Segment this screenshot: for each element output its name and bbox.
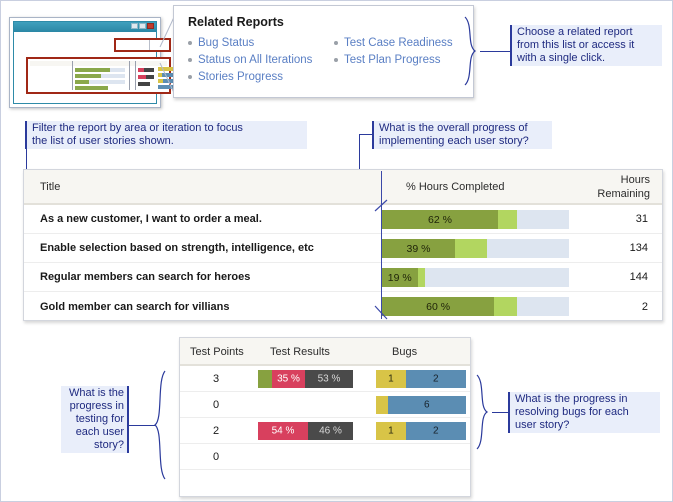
related-reports-column-1: Bug Status Status on All Iterations Stor… bbox=[188, 34, 312, 85]
table-row[interactable]: 06 bbox=[180, 392, 470, 418]
table-row[interactable]: Gold member can search for villians60 %2 bbox=[24, 292, 662, 321]
screenshot-page: Related Reports Bug Status Status on All… bbox=[0, 0, 673, 502]
callout-filter: Filter the report by area or iteration t… bbox=[25, 121, 307, 149]
table-row[interactable]: As a new customer, I want to order a mea… bbox=[24, 205, 662, 234]
bar-segment: 1 bbox=[376, 422, 406, 440]
segment-label: 46 % bbox=[308, 426, 353, 437]
column-header-test-results: Test Results bbox=[270, 346, 330, 358]
user-story-title: Gold member can search for villians bbox=[40, 301, 230, 313]
segment-label: 2 bbox=[406, 426, 466, 437]
user-stories-rows: As a new customer, I want to order a mea… bbox=[24, 205, 662, 321]
hours-completed-bar: 19 % bbox=[382, 268, 569, 287]
thumbnail-titlebar bbox=[14, 22, 156, 32]
testing-callout-connector bbox=[129, 425, 155, 426]
callout-overall-progress: What is the overall progress of implemen… bbox=[372, 121, 552, 149]
user-story-title: Enable selection based on strength, inte… bbox=[40, 242, 314, 254]
bar-segment: 6 bbox=[388, 396, 466, 414]
table-row[interactable]: Regular members can search for heroes19 … bbox=[24, 263, 662, 292]
test-results-bar: 35 %53 % bbox=[258, 370, 353, 388]
minimize-icon bbox=[131, 23, 138, 29]
bullet-icon bbox=[188, 75, 192, 79]
close-icon bbox=[147, 23, 154, 29]
bar-segment: 46 % bbox=[308, 422, 353, 440]
percent-label: 60 % bbox=[382, 301, 494, 313]
test-points-value: 0 bbox=[180, 399, 252, 411]
user-stories-table: Title % Hours Completed Hours Remaining … bbox=[23, 169, 663, 321]
bar-segment bbox=[376, 396, 388, 414]
link-label: Stories Progress bbox=[198, 71, 283, 83]
segment-label: 53 % bbox=[305, 374, 353, 385]
related-report-test-plan-progress[interactable]: Test Plan Progress bbox=[334, 51, 453, 68]
column-header-title: Title bbox=[40, 181, 60, 193]
column-header-hours-remaining: Hours Remaining bbox=[597, 173, 650, 201]
window-buttons bbox=[131, 23, 154, 29]
main-table-divider bbox=[381, 171, 382, 319]
hours-remaining-value: 2 bbox=[642, 301, 648, 313]
hours-remaining-value: 134 bbox=[630, 242, 648, 254]
completed-segment: 60 % bbox=[382, 297, 494, 316]
related-report-test-case-readiness[interactable]: Test Case Readiness bbox=[334, 34, 453, 51]
hours-remaining-value: 144 bbox=[630, 271, 648, 283]
overall-callout-connector-h bbox=[359, 134, 373, 135]
maximize-icon bbox=[139, 23, 146, 29]
callout-testing-progress: What is the progress in testing for each… bbox=[61, 386, 129, 453]
related-reports-column-2: Test Case Readiness Test Plan Progress bbox=[334, 34, 453, 68]
thumbnail-table-highlight bbox=[26, 57, 171, 94]
test-results-bar: 54 %46 % bbox=[258, 422, 353, 440]
bar-segment: 35 % bbox=[272, 370, 305, 388]
segment-label: 1 bbox=[376, 374, 406, 385]
link-label: Test Case Readiness bbox=[344, 37, 453, 49]
bar-segment: 2 bbox=[406, 422, 466, 440]
bugs-bar: 12 bbox=[376, 370, 466, 388]
bullet-icon bbox=[334, 58, 338, 62]
main-table-divider-kink-bottom bbox=[373, 304, 391, 320]
bar-segment: 2 bbox=[406, 370, 466, 388]
hours-completed-bar: 60 % bbox=[382, 297, 569, 316]
test-bugs-table-header: Test Points Test Results Bugs bbox=[180, 338, 470, 366]
test-points-value: 0 bbox=[180, 451, 252, 463]
segment-label: 35 % bbox=[272, 374, 305, 385]
bullet-icon bbox=[188, 58, 192, 62]
related-reports-title: Related Reports bbox=[188, 15, 284, 29]
table-row[interactable]: 254 %46 %12 bbox=[180, 418, 470, 444]
related-callout-connector bbox=[480, 51, 510, 52]
thumbnail-body bbox=[17, 35, 153, 100]
user-stories-table-header: Title % Hours Completed Hours Remaining bbox=[24, 170, 662, 205]
completed-segment: 39 % bbox=[382, 239, 455, 258]
segment-label: 54 % bbox=[258, 426, 308, 437]
in-progress-segment bbox=[494, 297, 516, 316]
related-report-stories-progress[interactable]: Stories Progress bbox=[188, 68, 312, 85]
bar-segment: 1 bbox=[376, 370, 406, 388]
report-thumbnail[interactable] bbox=[9, 17, 161, 108]
user-story-title: As a new customer, I want to order a mea… bbox=[40, 213, 262, 225]
table-row[interactable]: Enable selection based on strength, inte… bbox=[24, 234, 662, 263]
filter-callout-connector bbox=[26, 147, 27, 171]
link-label: Test Plan Progress bbox=[344, 54, 441, 66]
bugs-callout-connector bbox=[492, 412, 508, 413]
related-reports-brace bbox=[463, 15, 481, 87]
segment-label: 1 bbox=[376, 426, 406, 437]
bar-segment: 54 % bbox=[258, 422, 308, 440]
related-report-status-all-iterations[interactable]: Status on All Iterations bbox=[188, 51, 312, 68]
link-label: Bug Status bbox=[198, 37, 254, 49]
bugs-bar: 6 bbox=[376, 396, 466, 414]
thumbnail-window bbox=[13, 21, 157, 104]
bugs-brace bbox=[475, 373, 493, 451]
hours-remaining-value: 31 bbox=[636, 213, 648, 225]
segment-label: 6 bbox=[388, 400, 466, 411]
callout-bugs-progress: What is the progress in resolving bugs f… bbox=[508, 392, 660, 433]
main-table-divider-kink-top bbox=[373, 199, 391, 213]
segment-label: 2 bbox=[406, 374, 466, 385]
overall-callout-connector-v bbox=[359, 134, 360, 171]
column-header-test-points: Test Points bbox=[190, 346, 244, 358]
table-row[interactable]: 0 bbox=[180, 444, 470, 470]
column-header-bugs: Bugs bbox=[392, 346, 417, 358]
test-points-value: 3 bbox=[180, 373, 252, 385]
user-story-title: Regular members can search for heroes bbox=[40, 271, 250, 283]
percent-label: 39 % bbox=[382, 243, 455, 255]
table-row[interactable]: 335 %53 %12 bbox=[180, 366, 470, 392]
hours-completed-bar: 39 % bbox=[382, 239, 569, 258]
link-label: Status on All Iterations bbox=[198, 54, 312, 66]
bar-segment bbox=[258, 370, 272, 388]
completed-segment: 62 % bbox=[382, 210, 498, 229]
hours-completed-bar: 62 % bbox=[382, 210, 569, 229]
in-progress-segment bbox=[455, 239, 487, 258]
in-progress-segment bbox=[498, 210, 517, 229]
test-bugs-rows: 335 %53 %1206254 %46 %120 bbox=[180, 366, 470, 470]
completed-segment: 19 % bbox=[382, 268, 418, 287]
bar-segment: 53 % bbox=[305, 370, 353, 388]
percent-label: 19 % bbox=[382, 272, 418, 284]
column-header-percent: % Hours Completed bbox=[406, 181, 504, 193]
related-report-bug-status[interactable]: Bug Status bbox=[188, 34, 312, 51]
bugs-bar: 12 bbox=[376, 422, 466, 440]
test-bugs-table: Test Points Test Results Bugs 335 %53 %1… bbox=[179, 337, 471, 497]
in-progress-segment bbox=[418, 268, 425, 287]
related-reports-panel: Related Reports Bug Status Status on All… bbox=[173, 5, 474, 98]
bullet-icon bbox=[334, 41, 338, 45]
percent-label: 62 % bbox=[382, 214, 498, 226]
bullet-icon bbox=[188, 41, 192, 45]
thumbnail-table bbox=[30, 61, 167, 90]
test-points-value: 2 bbox=[180, 425, 252, 437]
callout-related-reports: Choose a related report from this list o… bbox=[510, 25, 662, 66]
